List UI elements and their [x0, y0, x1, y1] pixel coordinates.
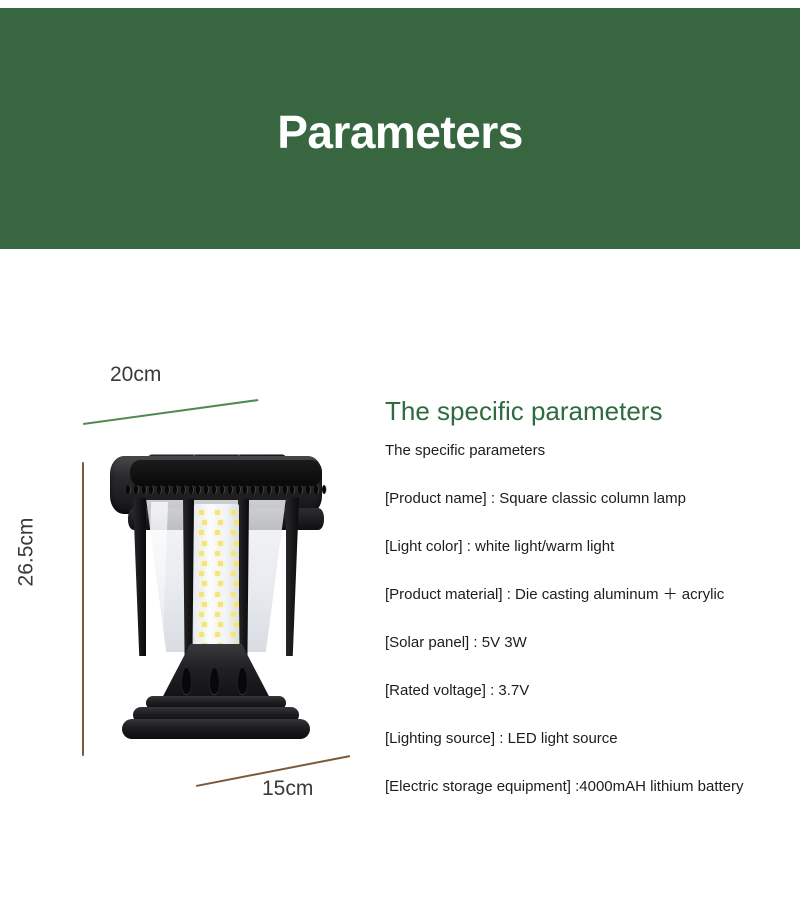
led-dot: [218, 541, 223, 546]
led-dot: [218, 561, 223, 566]
product-diagram: 20cm 26.5cm 15cm: [0, 250, 375, 900]
lamp-ridge-tooth: [181, 485, 185, 494]
spec-line: [Light color] : white light/warm light: [385, 538, 785, 586]
lamp-ridge-tooth: [134, 485, 138, 494]
led-dot: [199, 592, 204, 597]
led-dot: [218, 581, 223, 586]
led-dot: [202, 561, 207, 566]
led-dot: [234, 622, 239, 627]
led-dot: [202, 581, 207, 586]
spec-line: [Electric storage equipment] :4000mAH li…: [385, 778, 785, 826]
lamp-ridge-tooth: [196, 485, 200, 494]
led-dot: [231, 592, 236, 597]
lamp-ridge-tooth: [306, 485, 310, 494]
led-dot: [231, 510, 236, 515]
lamp-pedestal: [160, 644, 272, 702]
led-dot: [234, 581, 239, 586]
led-light-tube: [194, 504, 239, 652]
led-dot: [215, 632, 220, 637]
specifications-list: The specific parameters[Product name] : …: [385, 442, 785, 826]
dimension-line-top: [83, 399, 259, 425]
led-dot: [218, 520, 223, 525]
lamp-ridge-tooth: [220, 485, 224, 494]
spec-line: [Product name] : Square classic column l…: [385, 490, 785, 538]
lamp-ridge-tooth: [314, 485, 318, 494]
pedestal-vent: [238, 668, 247, 694]
led-dot: [215, 530, 220, 535]
lamp-corner-post: [183, 499, 194, 655]
led-dot: [215, 551, 220, 556]
lamp-ridge-tooth: [212, 485, 216, 494]
led-dot: [202, 622, 207, 627]
led-dot: [234, 541, 239, 546]
lamp-ridge-tooth: [322, 485, 326, 494]
lamp-ridge-tooth: [267, 485, 271, 494]
spec-line: [Rated voltage] : 3.7V: [385, 682, 785, 730]
lamp-ridge-tooth: [149, 485, 153, 494]
led-dot: [231, 571, 236, 576]
pedestal-vent: [182, 668, 191, 694]
lamp-ridge-tooth: [157, 485, 161, 494]
spec-line: The specific parameters: [385, 442, 785, 490]
spec-line: [Product material] : Die casting aluminu…: [385, 586, 785, 634]
parameters-page: Parameters 20cm 26.5cm 15cm: [0, 0, 800, 900]
led-dot: [215, 592, 220, 597]
led-dot: [234, 561, 239, 566]
lamp-ridge-tooth: [283, 485, 287, 494]
lamp-ridge-tooth: [228, 485, 232, 494]
pedestal-vent: [210, 668, 219, 694]
lamp-ridge-tooth: [126, 485, 130, 494]
lamp-ridge-tooth: [204, 485, 208, 494]
led-dot: [199, 510, 204, 515]
lamp-ridge-tooth: [251, 485, 255, 494]
specifications-heading: The specific parameters: [385, 396, 662, 427]
dimension-label-width-base: 15cm: [262, 777, 313, 801]
lamp-ridge-tooth: [165, 485, 169, 494]
led-dot: [234, 602, 239, 607]
led-dot: [218, 622, 223, 627]
led-dot: [199, 530, 204, 535]
page-banner: Parameters: [0, 8, 800, 249]
spec-line: [Solar panel] : 5V 3W: [385, 634, 785, 682]
led-dot: [218, 602, 223, 607]
lamp-corner-post: [286, 498, 299, 656]
led-dot: [215, 510, 220, 515]
led-dot: [202, 541, 207, 546]
lamp-ridge-tooth: [275, 485, 279, 494]
lamp-ridge-tooth: [290, 485, 294, 494]
product-lamp-image: [100, 428, 332, 748]
led-dot: [215, 571, 220, 576]
lamp-ridge-tooth: [236, 485, 240, 494]
led-dot: [234, 520, 239, 525]
dimension-label-height: 26.5cm: [14, 518, 38, 587]
led-dot: [231, 530, 236, 535]
led-dot: [231, 551, 236, 556]
led-dot: [215, 612, 220, 617]
lamp-ridge-tooth: [189, 485, 193, 494]
lamp-corner-post: [133, 498, 146, 656]
led-dot: [199, 632, 204, 637]
led-dot: [202, 520, 207, 525]
lamp-corner-post: [238, 499, 249, 655]
led-dot: [202, 602, 207, 607]
lamp-ridge-tooth: [173, 485, 177, 494]
lamp-ridge-tooth: [259, 485, 263, 494]
lamp-head-ridges: [126, 483, 326, 496]
lamp-ridge-tooth: [298, 485, 302, 494]
spec-line: [Lighting source] : LED light source: [385, 730, 785, 778]
led-dot: [199, 551, 204, 556]
led-dot: [199, 571, 204, 576]
lamp-base-tier: [122, 719, 310, 739]
dimension-label-width-top: 20cm: [110, 363, 161, 387]
dimension-line-vertical: [82, 462, 84, 756]
page-title: Parameters: [277, 109, 523, 155]
led-dot: [199, 612, 204, 617]
led-dot: [231, 612, 236, 617]
lamp-ridge-tooth: [142, 485, 146, 494]
led-dot: [231, 632, 236, 637]
lamp-ridge-tooth: [243, 485, 247, 494]
